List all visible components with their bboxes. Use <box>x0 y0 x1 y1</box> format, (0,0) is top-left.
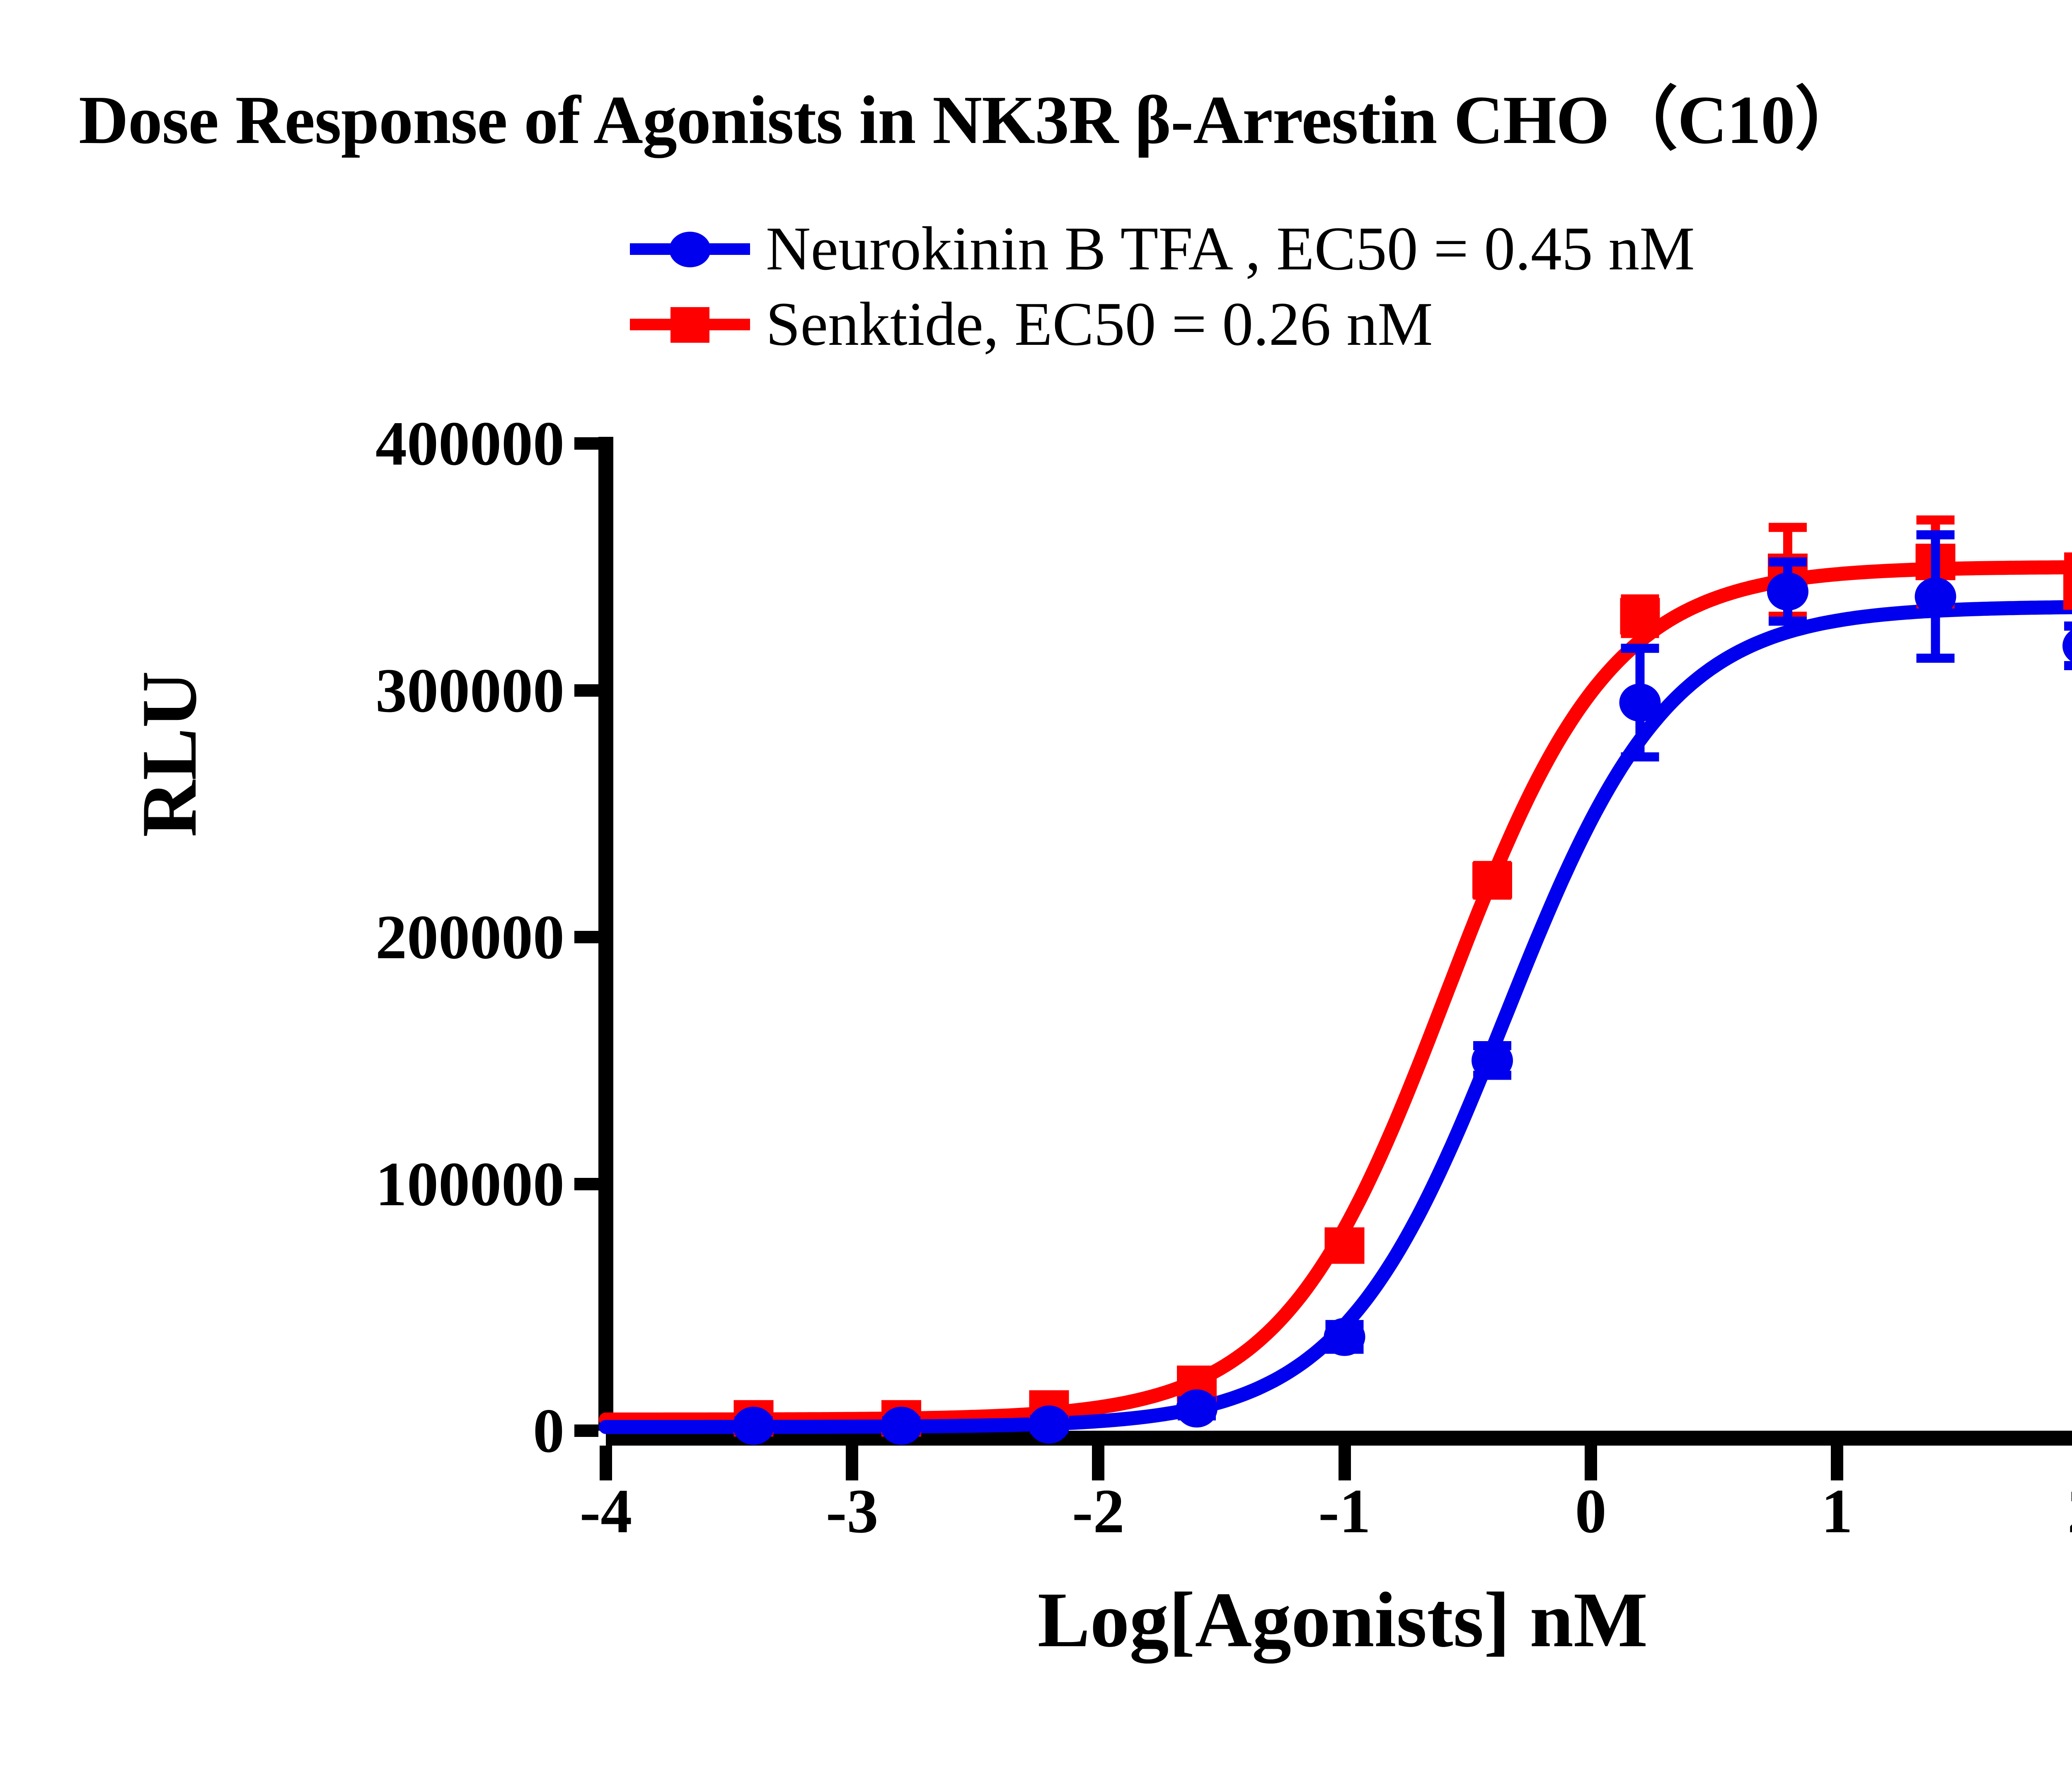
data-point-circle <box>1619 683 1661 722</box>
series-points-senktide <box>734 520 2072 1437</box>
x-axis-tick-label: -2 <box>1072 1480 1125 1543</box>
x-axis-tick-label: -3 <box>826 1480 879 1543</box>
y-axis-tick <box>574 931 598 943</box>
legend-item-neurokinin[interactable]: Neurokinin B TFA , EC50 = 0.45 nM <box>630 220 1695 278</box>
x-axis-tick-label: 0 <box>1575 1480 1607 1543</box>
chart-root: Dose Response of Agonists in NK3R β-Arre… <box>0 0 2072 1761</box>
data-point-square <box>1472 862 1512 899</box>
y-axis-tick <box>574 1178 598 1190</box>
chart-legend: Neurokinin B TFA , EC50 = 0.45 nM Senkti… <box>630 220 1695 353</box>
data-point-square <box>2063 573 2072 610</box>
legend-label-senktide: Senktide, EC50 = 0.26 nM <box>750 293 1433 355</box>
legend-label-neurokinin: Neurokinin B TFA , EC50 = 0.45 nM <box>750 218 1695 280</box>
legend-item-senktide[interactable]: Senktide, EC50 = 0.26 nM <box>630 295 1695 353</box>
data-point-circle <box>1472 1042 1513 1080</box>
data-point-circle <box>1029 1405 1070 1444</box>
x-axis-tick-label: 2 <box>2067 1480 2072 1543</box>
x-axis-tick-label: -1 <box>1318 1480 1371 1543</box>
x-axis-tick <box>1339 1446 1351 1480</box>
data-point-circle <box>881 1407 922 1445</box>
y-axis-tick <box>574 437 598 450</box>
x-axis-tick-label: 1 <box>1821 1480 1853 1543</box>
data-point-circle <box>1176 1389 1218 1427</box>
data-point-circle <box>733 1407 775 1445</box>
y-axis-label: RLU <box>124 671 215 837</box>
data-point-square <box>1620 598 1660 635</box>
data-point-circle <box>1324 1318 1365 1356</box>
legend-marker-square-icon <box>630 297 750 351</box>
x-axis-label: Log[Agonists] nM <box>1038 1575 1648 1665</box>
series-curve-senktide <box>606 567 2072 1420</box>
y-axis-tick-label: 200000 <box>375 906 564 969</box>
plot-area: 0100000200000300000400000-4-3-2-1012 <box>606 443 2072 1431</box>
chart-title: Dose Response of Agonists in NK3R β-Arre… <box>79 63 1863 163</box>
x-axis-tick <box>846 1446 858 1480</box>
legend-marker-circle-icon <box>630 222 750 276</box>
y-axis-tick-label: 100000 <box>375 1153 564 1216</box>
x-axis-tick <box>1831 1446 1843 1480</box>
y-axis-tick-label: 400000 <box>375 412 564 475</box>
y-axis-tick <box>574 1424 598 1437</box>
x-axis-tick <box>1092 1446 1104 1480</box>
series-points-neurokinin-b-tfa <box>733 535 2072 1445</box>
x-axis-tick <box>600 1446 612 1480</box>
x-axis-tick <box>1585 1446 1597 1480</box>
data-point-circle <box>1915 577 1956 615</box>
data-point-square <box>1325 1227 1365 1264</box>
data-point-circle <box>1767 572 1808 610</box>
plot-canvas <box>411 410 2072 1778</box>
x-axis-tick-label: -4 <box>580 1480 632 1543</box>
y-axis-tick-label: 0 <box>533 1399 564 1462</box>
data-point-circle <box>2062 627 2072 665</box>
y-axis-tick-label: 300000 <box>375 659 564 722</box>
series-curve-neurokinin-b-tfa <box>606 607 2072 1427</box>
y-axis-tick <box>574 684 598 697</box>
